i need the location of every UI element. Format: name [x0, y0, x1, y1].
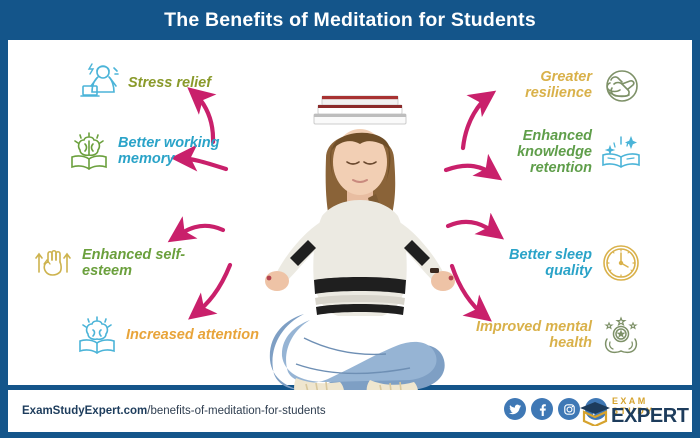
- benefit-label: Enhanced self-esteem: [82, 247, 230, 279]
- benefit-increased-attention[interactable]: Increased attention: [74, 312, 264, 358]
- stressed-student-laptop-icon: [76, 60, 122, 106]
- url-path: /benefits-of-meditation-for-students: [147, 405, 325, 417]
- benefit-label: Better sleep quality: [482, 247, 592, 279]
- benefit-stress-relief[interactable]: Stress relief: [76, 60, 246, 106]
- benefit-enhanced-self-esteem[interactable]: Enhanced self-esteem: [30, 240, 230, 286]
- benefit-better-working-memory[interactable]: Better working memory: [66, 128, 246, 174]
- raised-fist-arrows-icon: [30, 240, 76, 286]
- sparkling-book-icon: [598, 129, 644, 175]
- arrow-self-esteem: [174, 226, 223, 238]
- benefit-label: Greater resilience: [478, 69, 592, 101]
- instagram-icon[interactable]: [558, 398, 580, 420]
- graduation-cap-icon: [578, 400, 612, 426]
- benefit-label: Better working memory: [118, 135, 246, 167]
- facebook-icon[interactable]: [531, 398, 553, 420]
- main-canvas: Stress relief Better working memory: [8, 40, 692, 385]
- page-title: The Benefits of Meditation for Students: [164, 9, 536, 32]
- meditating-woman-illustration: [244, 88, 474, 423]
- benefit-greater-resilience[interactable]: Greater resilience: [478, 62, 644, 108]
- logo-line-two: EXPERT: [611, 405, 689, 428]
- hands-stars-medallion-icon: [598, 312, 644, 358]
- meditating-woman-photo: [244, 88, 474, 423]
- benefit-enhanced-knowledge-retention[interactable]: Enhanced knowledge retention: [470, 128, 644, 177]
- benefit-label: Increased attention: [126, 327, 259, 343]
- brand-logo[interactable]: EXAM STUDY EXPERT: [578, 396, 684, 430]
- twitter-icon[interactable]: [504, 398, 526, 420]
- benefit-better-sleep-quality[interactable]: Better sleep quality: [482, 240, 644, 286]
- infographic-page: The Benefits of Meditation for Students: [0, 0, 700, 438]
- benefit-label: Improved mental health: [468, 319, 592, 351]
- brain-book-icon: [66, 128, 112, 174]
- header-bar: The Benefits of Meditation for Students: [0, 0, 700, 40]
- benefit-label: Enhanced knowledge retention: [470, 128, 592, 177]
- book-stack-icon: [314, 96, 406, 124]
- benefit-improved-mental-health[interactable]: Improved mental health: [468, 312, 644, 358]
- clock-icon: [598, 240, 644, 286]
- article-url[interactable]: ExamStudyExpert.com/benefits-of-meditati…: [22, 405, 326, 417]
- brain-book-focus-icon: [74, 312, 120, 358]
- fist-in-circle-icon: [598, 62, 644, 108]
- benefit-label: Stress relief: [128, 75, 211, 91]
- url-domain: ExamStudyExpert.com: [22, 405, 147, 417]
